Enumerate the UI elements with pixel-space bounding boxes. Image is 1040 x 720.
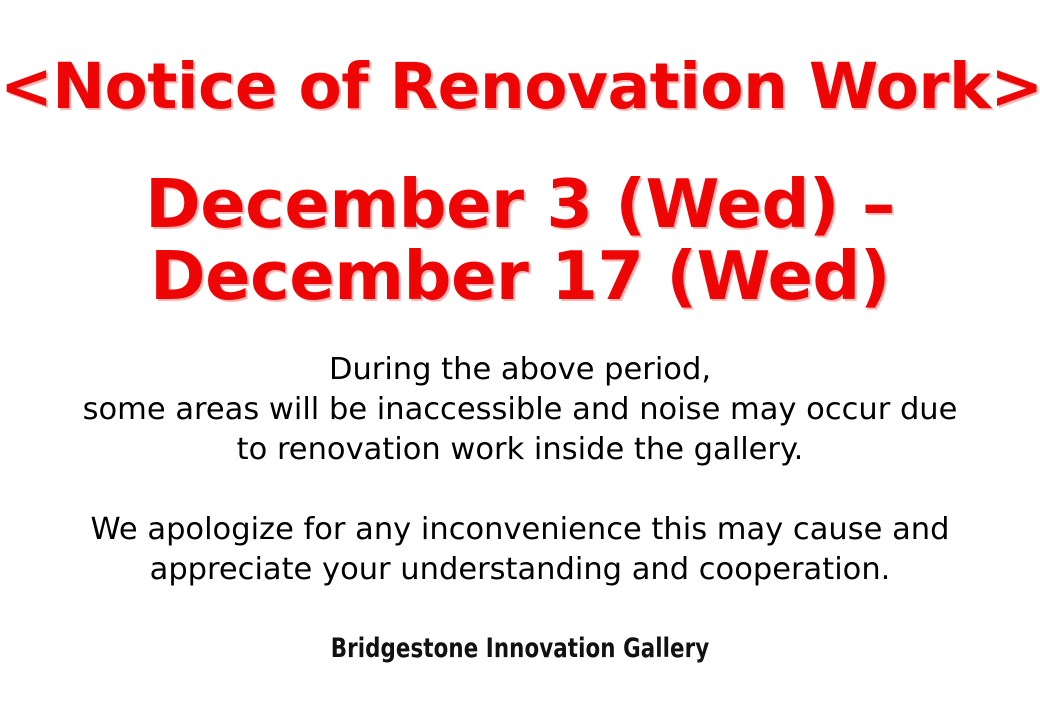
date-range-line-1: December 3 (Wed) – xyxy=(0,168,1040,240)
paragraph-1-line-1: During the above period, xyxy=(0,350,1040,390)
paragraph-spacer xyxy=(0,470,1040,510)
page-title: <Notice of Renovation Work> xyxy=(0,54,1040,121)
notice-paragraph-1: During the above period, some areas will… xyxy=(0,350,1040,470)
paragraph-2-line-2: appreciate your understanding and cooper… xyxy=(0,550,1040,590)
date-range-line-2: December 17 (Wed) xyxy=(0,240,1040,312)
notice-body-text: During the above period, some areas will… xyxy=(0,350,1040,590)
organization-signature: Bridgestone Innovation Gallery xyxy=(62,634,977,664)
notice-paragraph-2: We apologize for any inconvenience this … xyxy=(0,510,1040,590)
paragraph-1-line-2: some areas will be inaccessible and nois… xyxy=(0,390,1040,430)
closure-date-range: December 3 (Wed) – December 17 (Wed) xyxy=(0,168,1040,313)
paragraph-2-line-1: We apologize for any inconvenience this … xyxy=(0,510,1040,550)
renovation-notice-slide: <Notice of Renovation Work> December 3 (… xyxy=(0,0,1040,720)
paragraph-1-line-3: to renovation work inside the gallery. xyxy=(0,430,1040,470)
